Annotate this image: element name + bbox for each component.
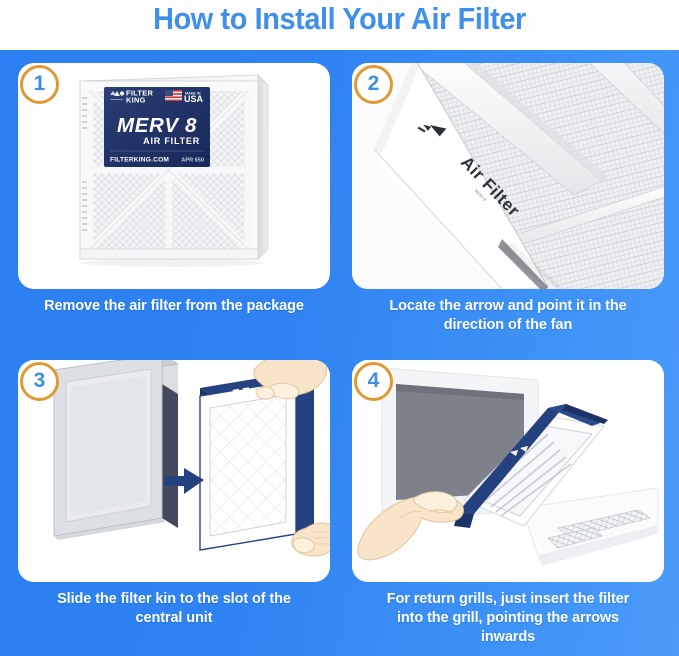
slide-filter-svg — [18, 360, 330, 582]
merv-rating-text: MERV 8 — [117, 114, 197, 137]
air-filter-photo-svg: FILTER KING MADE IN USA — [18, 63, 330, 289]
step-number-badge-4: 4 — [354, 362, 393, 401]
step-panel-4: 4 For return grills, just insert the fil… — [352, 360, 664, 656]
apr-text: APR 650 — [181, 158, 204, 164]
brand-line-2: KING — [126, 96, 146, 105]
caption-line: central unit — [18, 609, 330, 628]
caption-line: For return grills, just insert the filte… — [352, 590, 664, 609]
return-grille-insert-illustration — [352, 360, 664, 582]
step-panel-1: FILTER KING MADE IN USA — [18, 63, 330, 353]
step-4-card — [352, 360, 664, 582]
step-caption-1: Remove the air filter from the package — [18, 297, 330, 316]
return-grille-svg — [352, 360, 664, 582]
air-filter-subtitle-text: AIR FILTER — [143, 136, 200, 146]
step-caption-2: Locate the arrow and point it in the dir… — [352, 297, 664, 335]
caption-line: into the grill, pointing the arrows — [352, 609, 664, 628]
step-2-card: Air Filter MERV 8 — [352, 63, 664, 289]
step-1-card: FILTER KING MADE IN USA — [18, 63, 330, 289]
infographic-page: How to Install Your Air Filter — [0, 0, 679, 656]
air-filter-corner-photo: Air Filter MERV 8 — [352, 63, 664, 289]
filter-corner-photo-svg: Air Filter MERV 8 — [352, 63, 664, 289]
step-caption-3: Slide the filter kin to the slot of the … — [18, 590, 330, 628]
step-number-2: 2 — [368, 73, 380, 94]
caption-line: Remove the air filter from the package — [18, 297, 330, 316]
usa-text: USA — [184, 94, 204, 104]
step-3-card — [18, 360, 330, 582]
caption-line: inwards — [352, 628, 664, 647]
step-caption-4: For return grills, just insert the filte… — [352, 590, 664, 647]
step-panel-3: 3 Slide the filter kin to the slot of th… — [18, 360, 330, 656]
slide-filter-into-slot-illustration — [18, 360, 330, 582]
step-number-badge-1: 1 — [20, 65, 59, 104]
air-filter-product-photo: FILTER KING MADE IN USA — [18, 63, 330, 289]
caption-line: direction of the fan — [352, 316, 664, 335]
step-number-4: 4 — [368, 370, 380, 391]
step-number-1: 1 — [34, 73, 46, 94]
filter-panel-group — [200, 372, 314, 550]
step-number-badge-3: 3 — [20, 362, 59, 401]
step-number-3: 3 — [34, 370, 46, 391]
step-number-badge-2: 2 — [354, 65, 393, 104]
caption-line: Locate the arrow and point it in the — [352, 297, 664, 316]
website-text: FILTERKING.COM — [110, 157, 169, 164]
caption-line: Slide the filter kin to the slot of the — [18, 590, 330, 609]
page-title: How to Install Your Air Filter — [24, 1, 655, 37]
header: How to Install Your Air Filter — [0, 0, 679, 50]
step-panel-2: Air Filter MERV 8 2 Locate the arrow and… — [352, 63, 664, 353]
us-flag-icon — [165, 90, 182, 101]
steps-grid: FILTER KING MADE IN USA — [0, 50, 679, 656]
